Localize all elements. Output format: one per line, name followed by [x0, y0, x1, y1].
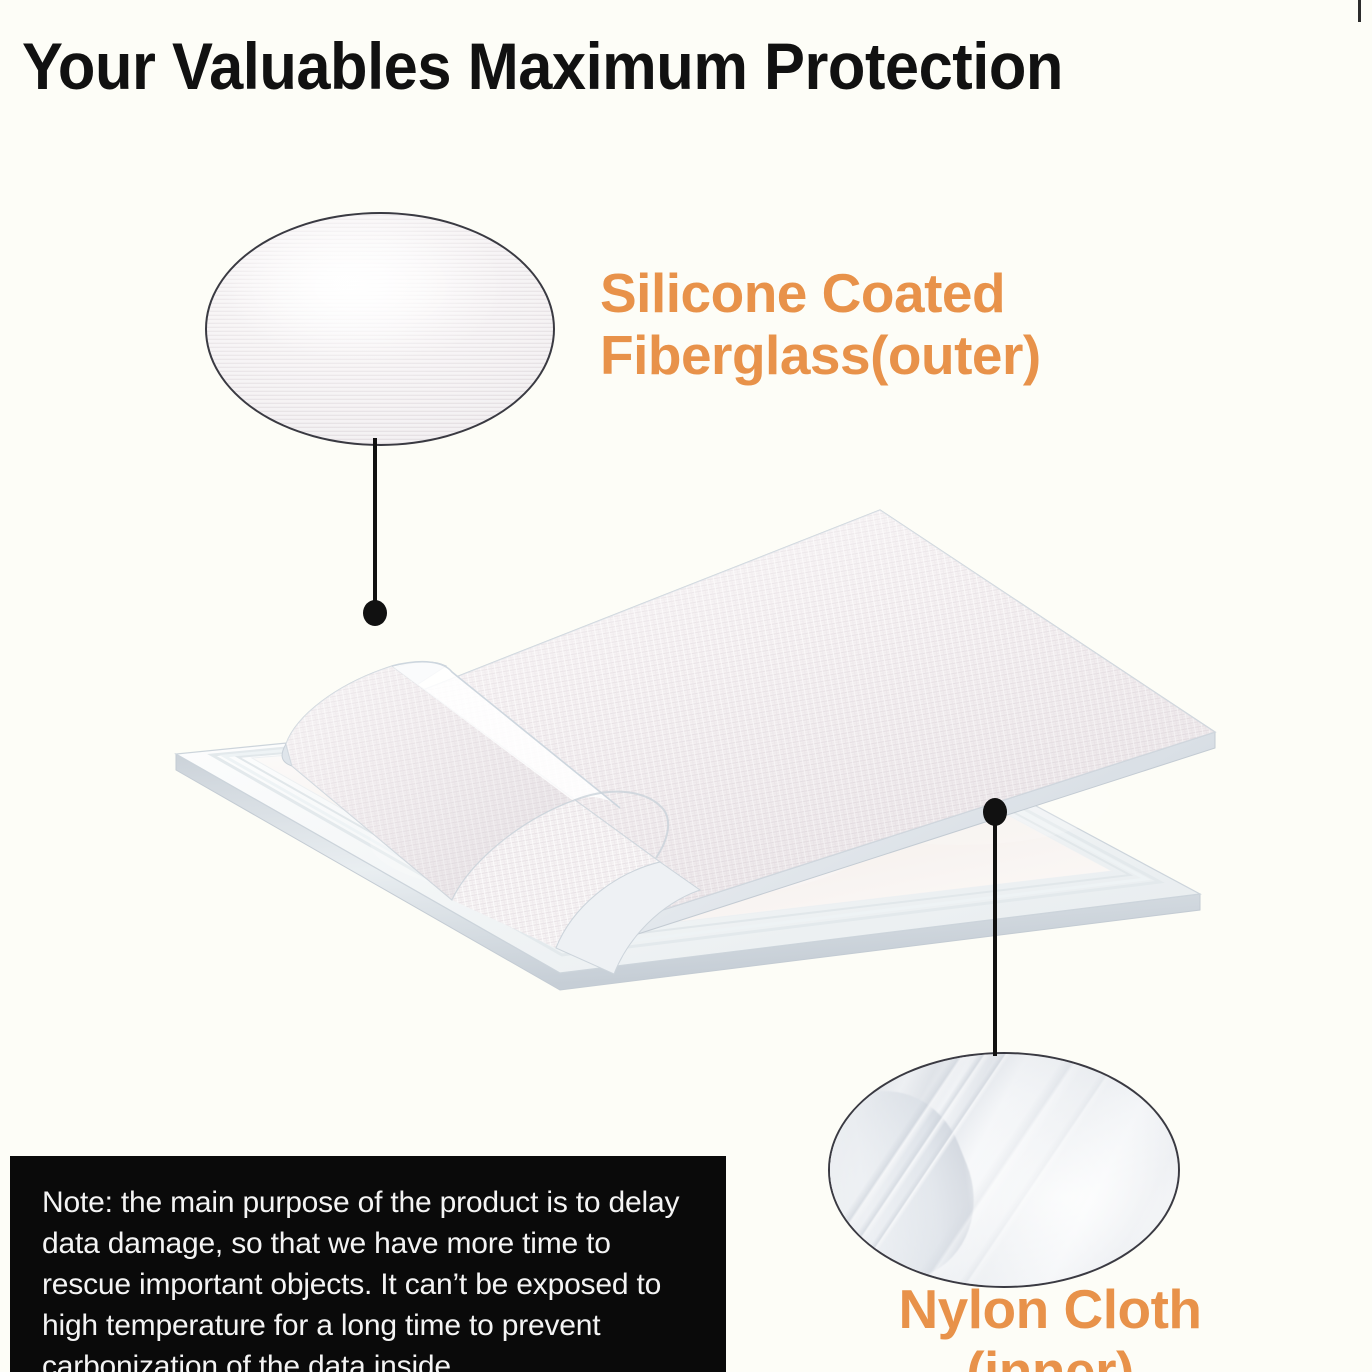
scan-edge-artifact: [1358, 0, 1361, 22]
leader-line-nylon: [993, 806, 997, 1056]
callout-label-inner-layer: Nylon Cloth (inner): [840, 1278, 1260, 1372]
note-box: Note: the main purpose of the product is…: [10, 1156, 726, 1372]
leader-line-fiberglass: [373, 438, 377, 614]
oval-sheen: [207, 214, 553, 444]
product-infographic-page: Your Valuables Maximum Protection: [0, 0, 1372, 1372]
callout-outer-line-1: Silicone Coated: [600, 262, 1005, 324]
callout-outer-line-2: Fiberglass(outer): [600, 324, 1041, 386]
callout-label-outer-layer: Silicone Coated Fiberglass(outer): [600, 262, 1160, 386]
callout-inner-line-1: Nylon Cloth: [898, 1278, 1201, 1340]
nylon-cloth-magnifier: [828, 1052, 1180, 1288]
fiberglass-texture-magnifier: [205, 212, 555, 446]
note-text: Note: the main purpose of the product is…: [42, 1182, 696, 1372]
leader-dot-fiberglass: [363, 600, 387, 626]
nylon-oval-shading: [830, 1054, 1178, 1286]
callout-inner-line-2: (inner): [840, 1340, 1260, 1372]
layered-material-illustration: [0, 470, 1372, 1030]
leader-dot-nylon: [983, 798, 1007, 826]
page-title: Your Valuables Maximum Protection: [22, 28, 1064, 104]
